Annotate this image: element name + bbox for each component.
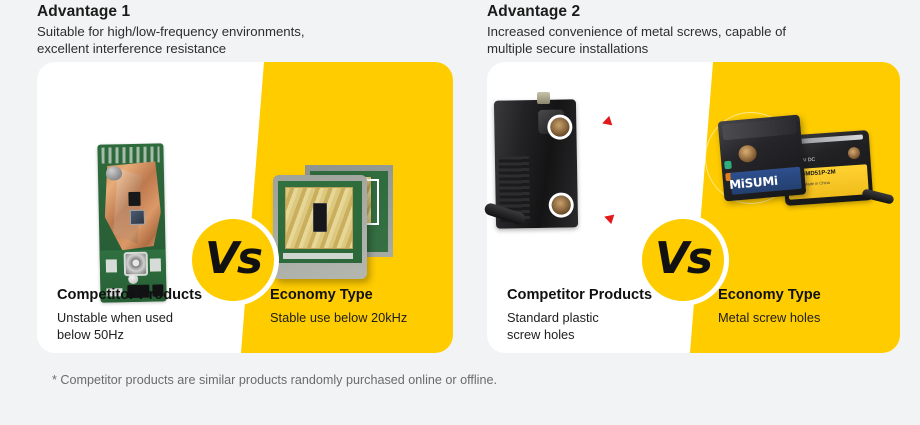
advantage-1-subtitle: Suitable for high/low-frequency environm… [37,23,467,57]
advantage-2-title: Advantage 2 [487,2,917,22]
economy-heading-1: Economy Type [270,286,450,305]
economy-heading-2: Economy Type [718,286,898,305]
pcb-chip [128,192,140,206]
pcb-traces [101,146,159,163]
label-origin: Made in China [804,180,830,187]
economy-sensor-top-face [722,118,797,140]
vs-badge-2: Vs [637,214,729,306]
metal-screw-hole-front [738,144,757,163]
economy-strip-front [283,253,353,259]
competitor-body-1: Unstable when used below 50Hz [57,310,247,343]
economy-body-1: Stable use below 20kHz [270,310,450,327]
economy-board-photo-front [273,175,367,279]
pcb-resistor-1 [106,259,117,272]
vs-label-2: Vs [655,237,711,281]
advantage-2-subtitle: Increased convenience of metal screws, c… [487,23,917,57]
advantage-1-title: Advantage 1 [37,2,467,22]
pcb-capacitor [106,166,122,180]
advantage-block-1: Advantage 1 Suitable for high/low-freque… [37,0,467,425]
comparison-infographic: Advantage 1 Suitable for high/low-freque… [0,0,920,425]
metal-screw-hole-back [848,147,861,160]
economy-sensor-photo-front: MiSUMi [718,115,807,202]
economy-body-2: Metal screw holes [718,310,898,327]
media-area-1: Vs [37,62,453,274]
economy-caption-1: Economy Type Stable use below 20kHz [270,286,450,327]
comparison-card-1: Vs Competitor Products* Unstable when us… [37,62,453,353]
vs-badge-1: Vs [187,214,279,306]
vs-label-1: Vs [205,237,261,281]
sensor-connector-pin [537,92,550,104]
economy-chip-front [313,203,327,232]
competitor-body-2: Standard plastic screw holes [507,310,697,343]
footnote: * Competitor products are similar produc… [52,372,497,389]
plastic-screw-hole-top [550,117,569,136]
pcb-sensor-die [130,210,145,225]
economy-caption-2: Economy Type Metal screw holes [718,286,898,327]
plastic-screw-hole-bottom [552,195,571,214]
status-led-green [724,161,732,170]
pcb-coil [124,252,148,276]
pcb-resistor-2 [150,258,161,271]
